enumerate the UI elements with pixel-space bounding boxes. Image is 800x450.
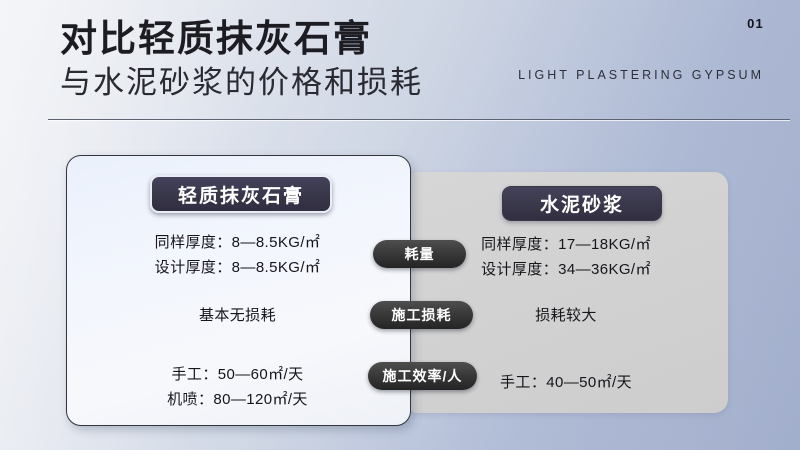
gypsum-row-manual: 手工：50—60㎡/天 (66, 362, 409, 387)
slide-canvas: 对比轻质抹灰石膏 与水泥砂浆的价格和损耗 01 LIGHT PLASTERING… (0, 0, 800, 450)
gypsum-row-loss: 基本无损耗 (66, 303, 409, 328)
metric-label-construction-loss: 施工损耗 (370, 301, 473, 329)
gypsum-row-same-thickness: 同样厚度：8—8.5KG/㎡ (66, 230, 409, 255)
gypsum-loss-rows: 基本无损耗 (66, 303, 409, 328)
column-title-gypsum: 轻质抹灰石膏 (150, 175, 332, 213)
column-title-mortar: 水泥砂浆 (502, 186, 662, 221)
gypsum-row-design-thickness: 设计厚度：8—8.5KG/㎡ (66, 255, 409, 280)
metric-label-efficiency-per-person: 施工效率/人 (368, 362, 477, 390)
metric-label-consumption: 耗量 (373, 240, 466, 268)
comparison-panel: 轻质抹灰石膏 水泥砂浆 同样厚度：8—8.5KG/㎡ 设计厚度：8—8.5KG/… (0, 0, 800, 450)
gypsum-consumption-rows: 同样厚度：8—8.5KG/㎡ 设计厚度：8—8.5KG/㎡ (66, 230, 409, 280)
gypsum-efficiency-rows: 手工：50—60㎡/天 机喷：80—120㎡/天 (66, 362, 409, 412)
gypsum-row-spray: 机喷：80—120㎡/天 (66, 387, 409, 412)
